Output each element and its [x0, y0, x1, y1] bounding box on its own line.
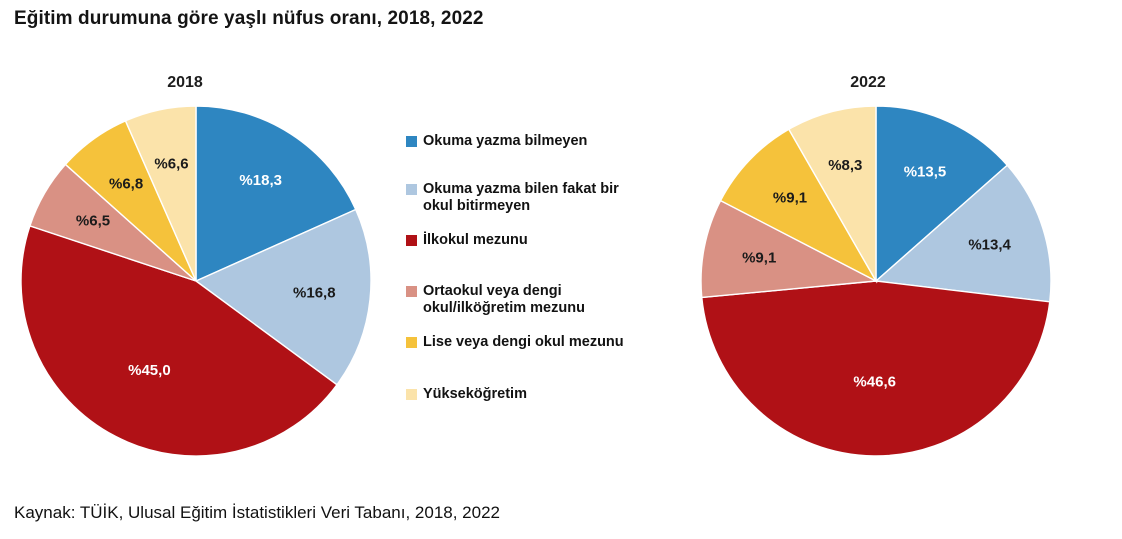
- pie-slice-label: %16,8: [293, 285, 336, 302]
- legend-item[interactable]: Lise veya dengi okul mezunu: [406, 334, 624, 351]
- pie-slice-label: %9,1: [742, 249, 776, 266]
- pie-slice[interactable]: [702, 281, 1050, 456]
- legend-swatch-icon: [406, 184, 417, 195]
- legend-item[interactable]: Okuma yazma bilen fakat bir okul bitirme…: [406, 181, 619, 215]
- legend-item-label: Ortaokul veya dengi okul/ilköğretim mezu…: [423, 283, 585, 317]
- legend-item[interactable]: Okuma yazma bilmeyen: [406, 133, 587, 150]
- legend-item-label: İlkokul mezunu: [423, 232, 528, 249]
- chart-year-label-2022: 2022: [808, 74, 928, 92]
- legend-item-label: Okuma yazma bilmeyen: [423, 133, 587, 150]
- chart-year-label-2018: 2018: [125, 74, 245, 92]
- pie-slice-label: %18,3: [239, 172, 282, 189]
- pie-slice-label: %8,3: [828, 157, 862, 174]
- pie-slice-label: %45,0: [128, 362, 171, 379]
- pie-chart-2018: %18,3%16,8%45,0%6,5%6,8%6,6: [20, 105, 372, 457]
- page-title: Eğitim durumuna göre yaşlı nüfus oranı, …: [14, 8, 484, 30]
- legend-swatch-icon: [406, 235, 417, 246]
- legend-swatch-icon: [406, 337, 417, 348]
- legend-swatch-icon: [406, 136, 417, 147]
- pie-slice-label: %9,1: [773, 190, 807, 207]
- legend-item-label: Lise veya dengi okul mezunu: [423, 334, 624, 351]
- pie-slice-label: %13,5: [904, 163, 947, 180]
- legend-swatch-icon: [406, 389, 417, 400]
- pie-chart-2022: %13,5%13,4%46,6%9,1%9,1%8,3: [700, 105, 1052, 457]
- source-note: Kaynak: TÜİK, Ulusal Eğitim İstatistikle…: [14, 503, 500, 523]
- legend-item-label: Yükseköğretim: [423, 386, 527, 403]
- pie-slice-label: %6,6: [154, 155, 188, 172]
- legend-item[interactable]: İlkokul mezunu: [406, 232, 528, 249]
- pie-svg-2018: %18,3%16,8%45,0%6,5%6,8%6,6: [20, 105, 372, 457]
- legend-item-label: Okuma yazma bilen fakat bir okul bitirme…: [423, 181, 619, 215]
- pie-slice-label: %46,6: [853, 373, 896, 390]
- pie-slice-label: %6,8: [109, 176, 143, 193]
- pie-slice-label: %6,5: [76, 212, 110, 229]
- legend-swatch-icon: [406, 286, 417, 297]
- legend-item[interactable]: Yükseköğretim: [406, 386, 527, 403]
- pie-svg-2022: %13,5%13,4%46,6%9,1%9,1%8,3: [700, 105, 1052, 457]
- pie-slice-label: %13,4: [968, 237, 1011, 254]
- legend-item[interactable]: Ortaokul veya dengi okul/ilköğretim mezu…: [406, 283, 585, 317]
